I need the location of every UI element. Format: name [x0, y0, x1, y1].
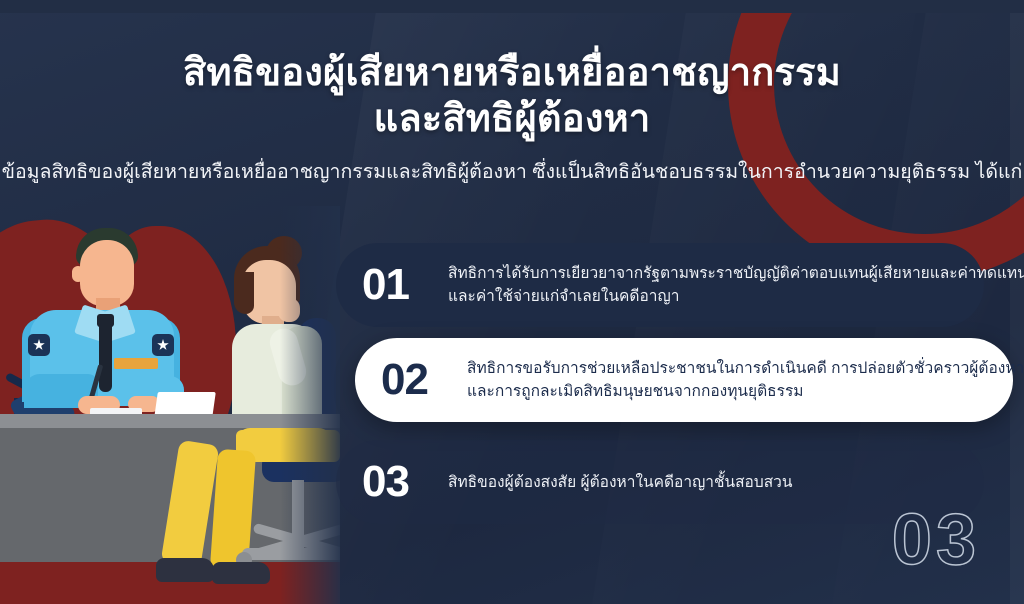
list-item-line-1: สิทธิของผู้ต้องสงสัย ผู้ต้องหาในคดีอาญาช…: [448, 471, 792, 494]
list-item-line-1: สิทธิการขอรับการช่วยเหลือประชาชนในการดำเ…: [467, 357, 1024, 380]
page-subtitle: ข้อมูลสิทธิของผู้เสียหายหรือเหยื่ออาชญาก…: [0, 159, 1024, 185]
list-item-text: สิทธิของผู้ต้องสงสัย ผู้ต้องหาในคดีอาญาช…: [448, 471, 792, 494]
page-title: สิทธิของผู้เสียหายหรือเหยื่ออาชญากรรม แล…: [0, 50, 1024, 142]
list-item-text: สิทธิการขอรับการช่วยเหลือประชาชนในการดำเ…: [467, 357, 1024, 403]
list-item-line-2: และการถูกละเมิดสิทธิมนุษยชนจากกองทุนยุติ…: [467, 380, 1024, 403]
list-item-03[interactable]: 03 สิทธิของผู้ต้องสงสัย ผู้ต้องหาในคดีอา…: [336, 440, 984, 524]
list-item-line-2: และค่าใช้จ่ายแก่จำเลยในคดีอาญา: [448, 285, 1024, 308]
list-item-number: 03: [362, 460, 448, 504]
header: สิทธิของผู้เสียหายหรือเหยื่ออาชญากรรม แล…: [0, 0, 1024, 185]
list-item-number: 01: [362, 263, 448, 307]
list-item-text: สิทธิการได้รับการเยียวยาจากรัฐตามพระราชบ…: [448, 262, 1024, 308]
list-item-02[interactable]: 02 สิทธิการขอรับการช่วยเหลือประชาชนในการ…: [355, 338, 1013, 422]
page-title-line-2: และสิทธิผู้ต้องหา: [0, 96, 1024, 142]
page-title-line-1: สิทธิของผู้เสียหายหรือเหยื่ออาชญากรรม: [183, 52, 841, 94]
page-number-watermark: 03: [892, 504, 980, 576]
list-item-number: 02: [381, 358, 467, 402]
list-item-01[interactable]: 01 สิทธิการได้รับการเยียวยาจากรัฐตามพระร…: [336, 243, 984, 327]
infographic-canvas: สิทธิของผู้เสียหายหรือเหยื่ออาชญากรรม แล…: [0, 0, 1024, 604]
top-band: [0, 0, 1024, 13]
list-item-line-1: สิทธิการได้รับการเยียวยาจากรัฐตามพระราชบ…: [448, 262, 1024, 285]
